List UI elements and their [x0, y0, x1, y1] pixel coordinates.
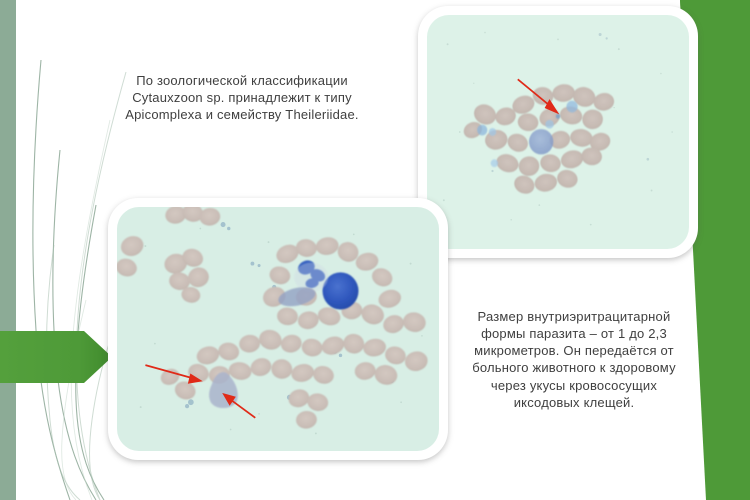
blood-smear-image-bottom [117, 207, 439, 451]
caption-bottom-line-6: иксодовых клещей. [438, 394, 710, 411]
blood-smear-photo-top[interactable] [418, 6, 698, 258]
caption-top-line-3: Apicomplexa и семейству Theileriidae. [92, 106, 392, 123]
caption-top-line-2: Cytauxzoon sp. принадлежит к типу [92, 89, 392, 106]
green-chevron-arrow [0, 329, 112, 385]
caption-bottom-line-5: через укусы кровососущих [438, 377, 710, 394]
caption-top-line-1: По зоологической классификации [92, 72, 392, 89]
caption-bottom-text: Размер внутриэритрацитарной формы парази… [438, 308, 710, 411]
caption-top-text: По зоологической классификации Cytauxzoo… [92, 72, 392, 123]
caption-bottom-line-4: больного животного к здоровому [438, 359, 710, 376]
photo-top-inner [427, 15, 689, 249]
caption-bottom-line-1: Размер внутриэритрацитарной [438, 308, 710, 325]
left-vertical-bar [0, 0, 16, 500]
blood-smear-image-top [427, 15, 689, 249]
slide-canvas: По зоологической классификации Cytauxzoo… [0, 0, 750, 500]
caption-bottom-line-3: микрометров. Он передаётся от [438, 342, 710, 359]
caption-bottom-line-2: формы паразита – от 1 до 2,3 [438, 325, 710, 342]
blood-smear-photo-bottom[interactable] [108, 198, 448, 460]
photo-bottom-inner [117, 207, 439, 451]
